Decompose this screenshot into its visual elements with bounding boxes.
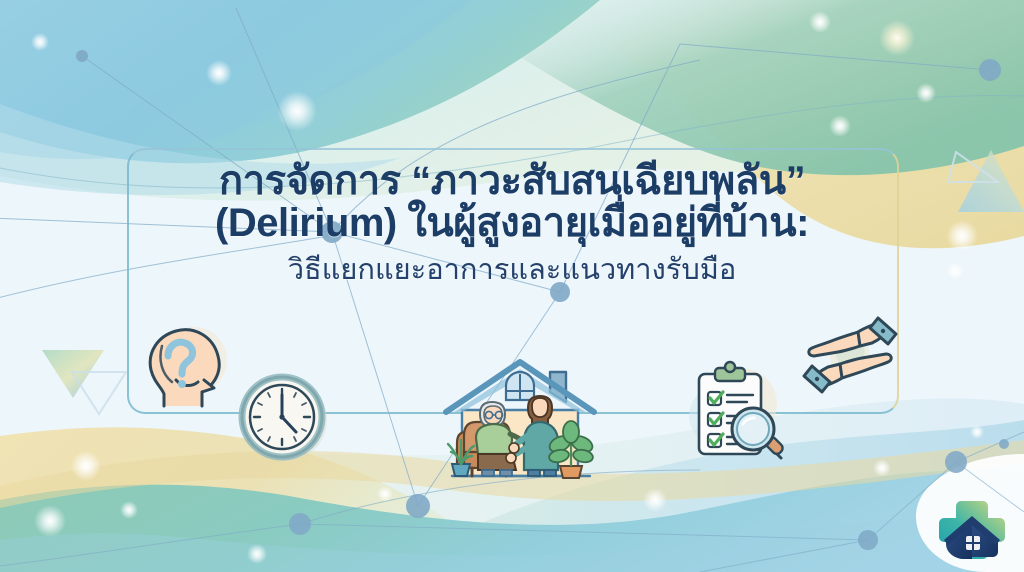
home-health-cross-logo[interactable] xyxy=(934,496,1010,564)
banner-canvas: การจัดการ “ภาวะสับสนเฉียบพลัน” (Delirium… xyxy=(0,0,1024,572)
clock-icon xyxy=(238,372,330,464)
home-care-illustration xyxy=(432,348,608,494)
helping-hands-icon xyxy=(798,308,902,402)
checklist-magnifier-icon xyxy=(683,358,787,462)
brain-question-icon xyxy=(138,318,234,410)
